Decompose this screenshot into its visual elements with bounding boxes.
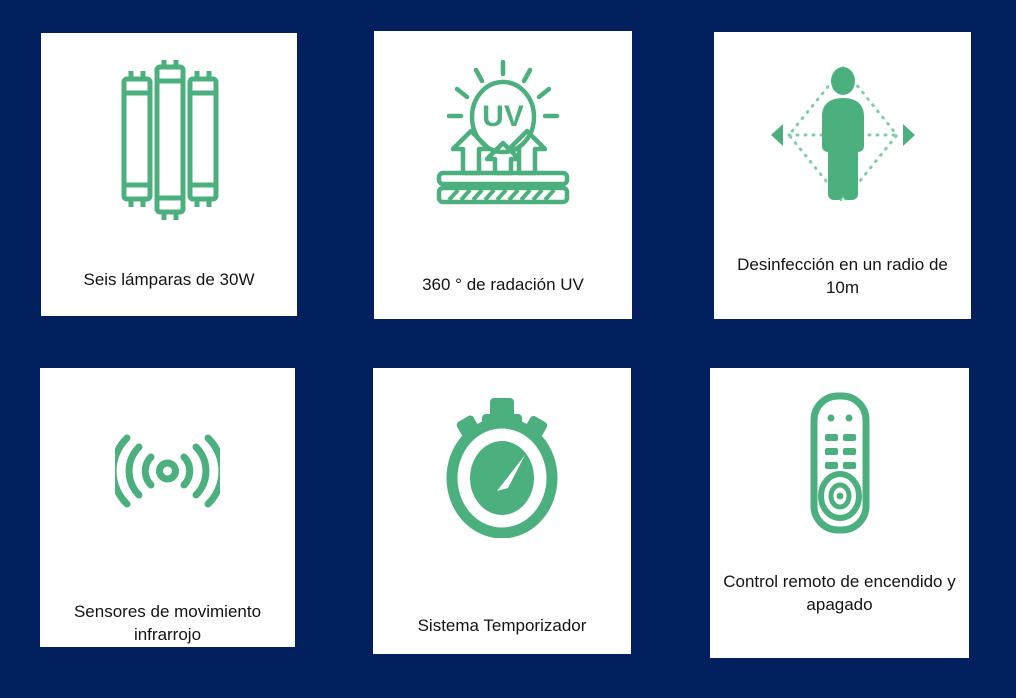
- feature-caption-remote: Control remoto de encendido y apagado: [710, 571, 969, 617]
- feature-card-lamps[interactable]: Seis lámparas de 30W: [41, 33, 297, 316]
- feature-card-remote[interactable]: Control remoto de encendido y apagado: [710, 368, 969, 658]
- feature-card-radiation[interactable]: UV: [374, 31, 632, 319]
- feature-caption-radius: Desinfección en un radio de 10m: [714, 254, 971, 300]
- uv-icon-label: UV: [482, 100, 524, 133]
- feature-card-sensors[interactable]: Sensores de movimiento infrarrojo: [40, 368, 295, 647]
- feature-caption-timer: Sistema Temporizador: [373, 615, 631, 638]
- feature-caption-radiation: 360 ° de radación UV: [374, 274, 632, 297]
- feature-caption-sensors: Sensores de movimiento infrarrojo: [40, 601, 295, 647]
- person-disinfection-radius-icon: [714, 57, 971, 212]
- feature-card-radius[interactable]: Desinfección en un radio de 10m: [714, 32, 971, 319]
- uv-sun-radiation-icon: UV: [374, 59, 632, 209]
- feature-card-timer[interactable]: Sistema Temporizador: [373, 368, 631, 654]
- stopwatch-timer-icon: [373, 394, 631, 539]
- feature-card-grid: Seis lámparas de 30W UV: [0, 0, 1016, 698]
- uv-lamp-tubes-icon: [41, 55, 297, 230]
- remote-control-icon: [710, 390, 969, 535]
- feature-caption-lamps: Seis lámparas de 30W: [41, 269, 297, 292]
- infrared-motion-sensor-icon: [40, 416, 295, 526]
